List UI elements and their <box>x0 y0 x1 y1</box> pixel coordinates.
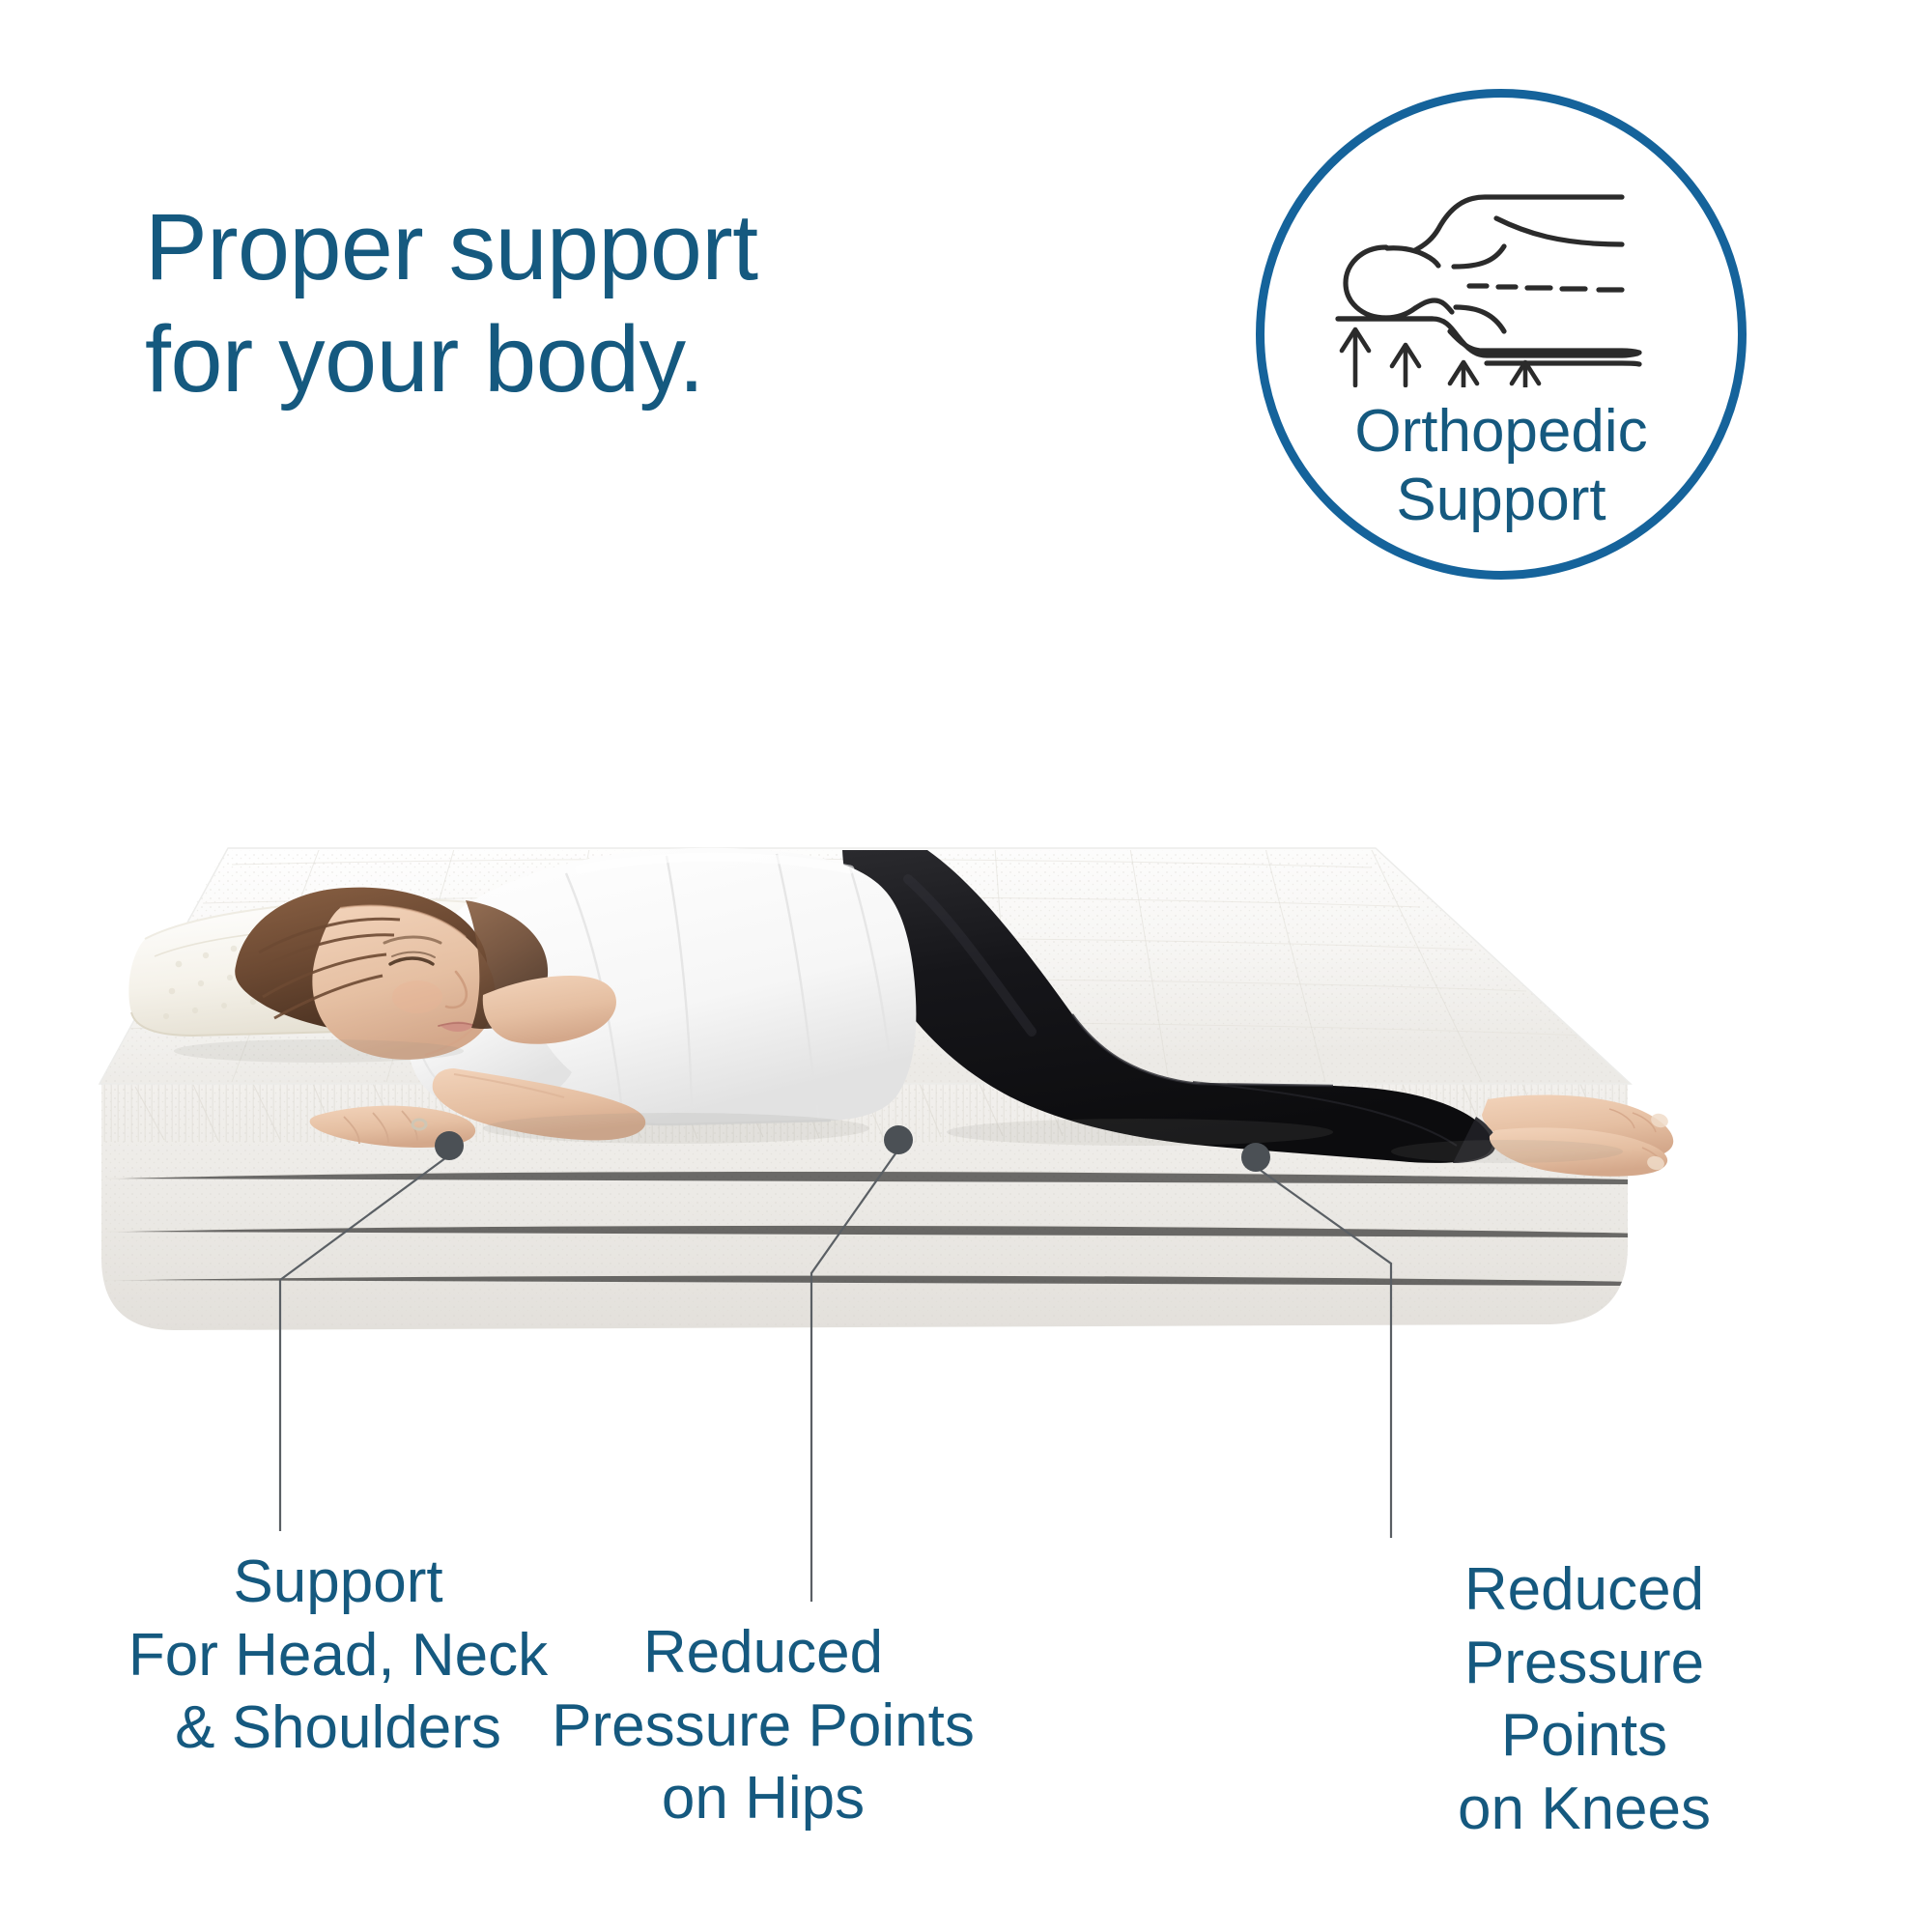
callout-label-hips: Reduced Pressure Points on Hips <box>552 1616 975 1835</box>
callout-label-head-neck-shoulders: Support For Head, Neck & Shoulders <box>128 1546 548 1765</box>
leader-line-hips <box>811 1150 898 1602</box>
callout-dot-hips[interactable] <box>884 1125 913 1154</box>
leader-line-knees <box>1256 1167 1391 1538</box>
callout-dot-head-neck-shoulders[interactable] <box>435 1131 464 1160</box>
infographic-canvas: Proper support for your body. <box>0 0 1932 1932</box>
callout-dot-knees[interactable] <box>1241 1143 1270 1172</box>
callout-label-knees: Reduced Pressure Points on Knees <box>1410 1553 1758 1846</box>
leader-line-head-neck-shoulders <box>280 1155 449 1531</box>
